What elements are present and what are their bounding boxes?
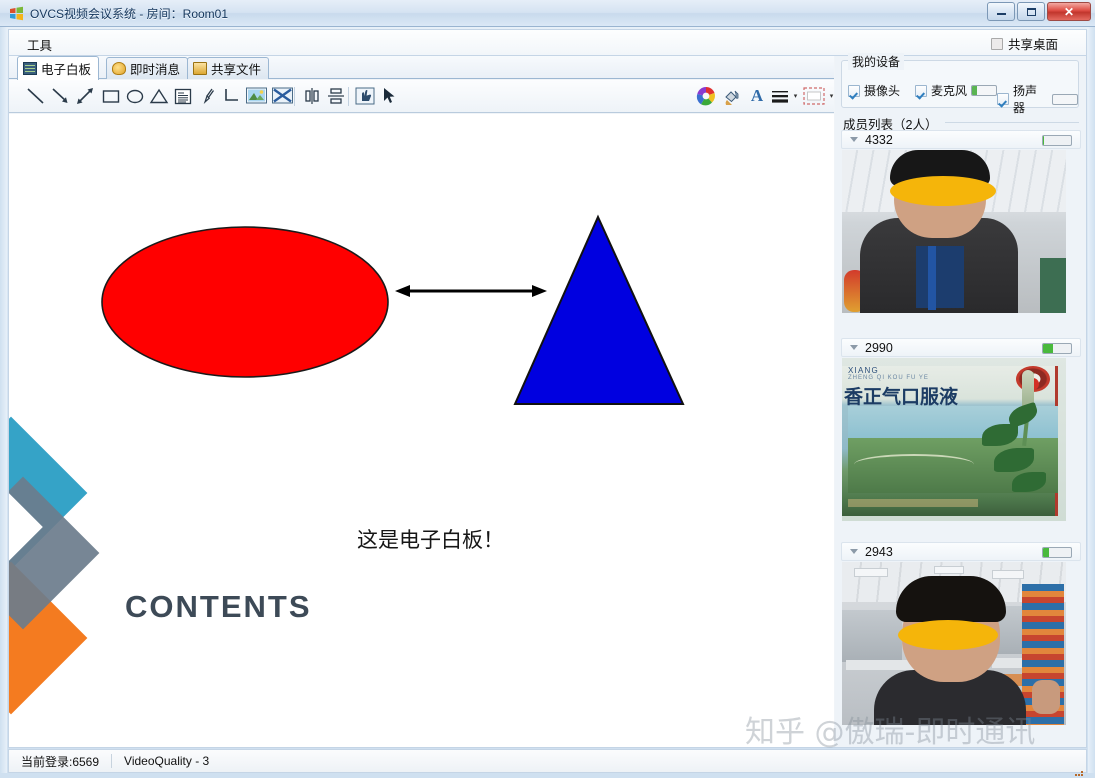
line-weight-dropdown-arrow[interactable]: ▾ bbox=[792, 93, 799, 100]
resize-grip-icon[interactable] bbox=[1071, 764, 1085, 776]
checkbox-box bbox=[997, 93, 1009, 105]
rectangle-tool[interactable] bbox=[100, 85, 122, 107]
chevron-down-icon[interactable] bbox=[850, 345, 858, 350]
tab-strip: 电子白板 即时消息 共享文件 bbox=[9, 56, 834, 79]
my-devices-title: 我的设备 bbox=[848, 53, 904, 70]
chevron-down-icon[interactable] bbox=[850, 137, 858, 142]
double-arrow bbox=[395, 285, 547, 297]
menu-bar: 工具 共享桌面 bbox=[8, 29, 1087, 55]
face-redaction-ellipse bbox=[890, 176, 996, 206]
double-arrow-tool[interactable] bbox=[74, 85, 96, 107]
whiteboard-canvas[interactable]: CONTENTS 这是电子白板！ bbox=[9, 114, 834, 747]
blue-triangle bbox=[515, 217, 683, 404]
window-controls: ✕ bbox=[987, 2, 1091, 21]
menu-tools[interactable]: 工具 bbox=[23, 34, 56, 55]
close-icon: ✕ bbox=[1048, 3, 1090, 20]
maximize-button[interactable] bbox=[1017, 2, 1045, 21]
member-level-meter bbox=[1042, 343, 1072, 354]
dashed-selection-icon[interactable] bbox=[803, 85, 825, 107]
window-title: OVCS视频会议系统 - 房间：Room01 bbox=[30, 5, 228, 22]
triangle-tool[interactable] bbox=[148, 85, 170, 107]
contents-heading: CONTENTS bbox=[125, 589, 312, 625]
tab-label: 电子白板 bbox=[41, 59, 91, 78]
member-header[interactable]: 4332 bbox=[841, 130, 1081, 149]
member-header[interactable]: 2943 bbox=[841, 542, 1081, 561]
my-devices-group: 我的设备 摄像头 麦克风 扬声器 bbox=[841, 60, 1079, 108]
cursor-arrow-tool[interactable] bbox=[378, 85, 400, 107]
device-camera[interactable]: 摄像头 bbox=[848, 82, 900, 99]
color-wheel-icon[interactable] bbox=[695, 85, 717, 107]
text-box-tool[interactable] bbox=[172, 85, 194, 107]
status-bar: 当前登录:6569 VideoQuality - 3 bbox=[8, 749, 1087, 773]
window-frame-left bbox=[0, 27, 7, 778]
title-bar: OVCS视频会议系统 - 房间：Room01 ✕ bbox=[0, 0, 1095, 27]
chat-icon bbox=[112, 62, 126, 75]
share-desktop-checkbox[interactable]: 共享桌面 bbox=[991, 34, 1058, 53]
drawing-toolbar: A ▾ ▾ bbox=[9, 80, 834, 113]
checkbox-box bbox=[915, 85, 927, 97]
pencil-tool[interactable] bbox=[197, 85, 219, 107]
window-frame-right bbox=[1088, 27, 1095, 778]
whiteboard-text-note: 这是电子白板！ bbox=[357, 524, 504, 554]
member-level-meter bbox=[1042, 547, 1072, 558]
whiteboard-icon bbox=[23, 62, 37, 75]
whiteboard-shapes-layer bbox=[9, 114, 834, 747]
status-video-quality: VideoQuality - 3 bbox=[112, 754, 221, 768]
face-redaction-ellipse bbox=[898, 620, 998, 650]
member-level-meter bbox=[1042, 135, 1072, 146]
chevron-down-icon[interactable] bbox=[850, 549, 858, 554]
device-label: 麦克风 bbox=[931, 82, 967, 99]
member-name: 4332 bbox=[865, 133, 893, 147]
members-title-rule bbox=[945, 122, 1079, 123]
ellipse-tool[interactable] bbox=[124, 85, 146, 107]
red-ellipse bbox=[102, 227, 388, 377]
tab-instant-message[interactable]: 即时消息 bbox=[106, 57, 188, 79]
arrow-tool[interactable] bbox=[50, 85, 72, 107]
member-item[interactable]: 2943 bbox=[841, 542, 1081, 725]
paint-bucket-icon[interactable] bbox=[721, 85, 743, 107]
checkbox-box bbox=[991, 38, 1003, 50]
minimize-button[interactable] bbox=[987, 2, 1015, 21]
video-overlay-en-title: XIANG bbox=[848, 366, 879, 375]
device-label: 扬声器 bbox=[1013, 82, 1048, 116]
member-video-feed[interactable] bbox=[842, 150, 1066, 313]
status-current-login: 当前登录:6569 bbox=[9, 753, 111, 770]
member-name: 2943 bbox=[865, 545, 893, 559]
content-area: 电子白板 即时消息 共享文件 bbox=[8, 55, 1087, 748]
line-weight-icon[interactable] bbox=[769, 85, 791, 107]
member-header[interactable]: 2990 bbox=[841, 338, 1081, 357]
file-share-icon bbox=[193, 62, 207, 75]
line-tool[interactable] bbox=[25, 85, 47, 107]
video-overlay-cn-title: 香正气口服液 bbox=[844, 382, 958, 409]
selection-dropdown-arrow[interactable]: ▾ bbox=[828, 93, 835, 100]
video-overlay-en-subtitle: ZHENG QI KOU FU YE bbox=[848, 375, 929, 381]
device-microphone[interactable]: 麦克风 bbox=[915, 82, 997, 99]
align-vertical-tool[interactable] bbox=[301, 85, 323, 107]
member-item[interactable]: 2990 XIANG ZHENG QI KOU FU YE 香正气口服液 bbox=[841, 338, 1081, 521]
tab-label: 共享文件 bbox=[211, 59, 261, 78]
whiteboard-panel: 电子白板 即时消息 共享文件 bbox=[9, 56, 834, 747]
device-speaker[interactable]: 扬声器 bbox=[997, 82, 1078, 116]
member-item[interactable]: 4332 bbox=[841, 130, 1081, 313]
side-panel: 我的设备 摄像头 麦克风 扬声器 成员列表（2人） bbox=[835, 56, 1086, 747]
window-frame-bottom bbox=[0, 773, 1095, 778]
microphone-level-meter bbox=[971, 85, 997, 96]
windows-logo-icon bbox=[9, 6, 24, 21]
member-video-feed[interactable]: XIANG ZHENG QI KOU FU YE 香正气口服液 bbox=[842, 358, 1066, 521]
checkbox-box bbox=[848, 85, 860, 97]
align-horizontal-tool[interactable] bbox=[325, 85, 347, 107]
member-video-feed[interactable] bbox=[842, 562, 1066, 725]
speaker-level-meter bbox=[1052, 94, 1078, 105]
tab-whiteboard[interactable]: 电子白板 bbox=[17, 56, 99, 80]
close-button[interactable]: ✕ bbox=[1047, 2, 1091, 21]
device-label: 摄像头 bbox=[864, 82, 900, 99]
tab-shared-files[interactable]: 共享文件 bbox=[187, 57, 269, 79]
tab-label: 即时消息 bbox=[130, 59, 180, 78]
member-name: 2990 bbox=[865, 341, 893, 355]
picture-tool[interactable] bbox=[245, 85, 267, 107]
hand-pointer-tool[interactable] bbox=[354, 85, 376, 107]
font-a-icon[interactable]: A bbox=[746, 85, 768, 107]
application-window: OVCS视频会议系统 - 房间：Room01 ✕ 工具 共享桌面 bbox=[0, 0, 1095, 778]
share-desktop-label: 共享桌面 bbox=[1008, 34, 1058, 53]
picture-cross-tool[interactable] bbox=[271, 85, 293, 107]
polyline-tool[interactable] bbox=[221, 85, 243, 107]
